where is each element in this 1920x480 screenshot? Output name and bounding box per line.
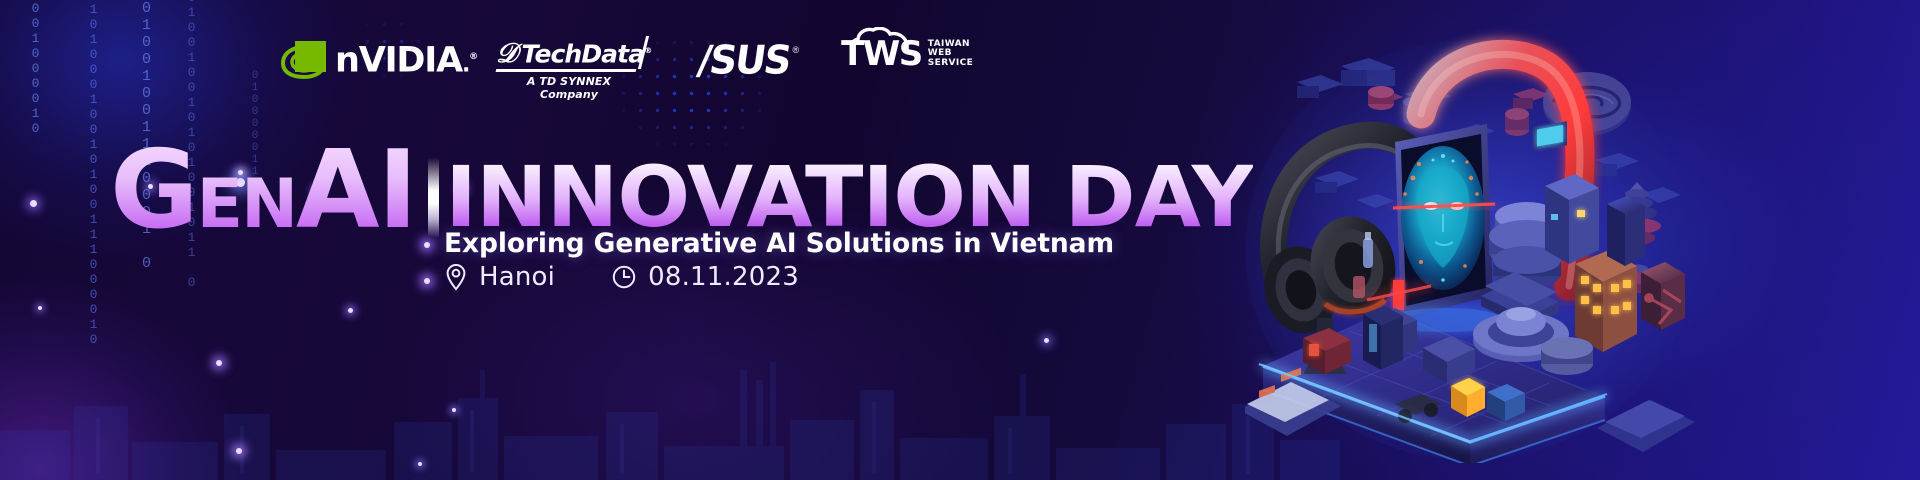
cloud-icon: [849, 27, 913, 53]
tws-tagline-line3: SERVICE: [928, 58, 973, 68]
glow-particle: [216, 360, 222, 366]
glow-particle: [348, 308, 353, 313]
nvidia-wordmark-text: nVIDIA: [335, 41, 462, 81]
clock-icon: [611, 264, 637, 290]
event-date: 08.11.2023: [611, 262, 799, 292]
binary-column: 0001000010: [28, 0, 42, 136]
techdata-wordmark: TechData®: [522, 38, 652, 67]
logo-asus[interactable]: /SUS ®: [698, 42, 799, 78]
brand-genai: GENAI: [110, 143, 416, 270]
glow-particle: [418, 462, 422, 466]
location-pin-icon: [444, 262, 468, 292]
city-skyline-silhouette: [0, 310, 1340, 480]
glow-particle: [30, 200, 37, 207]
event-meta-row: Hanoi 08.11.2023: [444, 262, 799, 292]
tws-tagline-line1: TAIWAN: [928, 39, 970, 49]
nvidia-registered-mark: ®: [469, 52, 477, 62]
glow-particle: [424, 278, 430, 284]
techdata-underline: [496, 69, 637, 72]
binary-column: 0110100010010100111000010: [86, 0, 100, 347]
brand-genai-en: EN: [197, 165, 296, 244]
logo-tech-data[interactable]: 𝒟 TechData® A TD SYNNEX Company: [496, 38, 642, 101]
techdata-monogram: 𝒟: [496, 40, 518, 66]
glow-particle: [1044, 338, 1049, 343]
asus-wordmark: /SUS: [695, 41, 792, 78]
asus-registered-mark: ®: [792, 45, 799, 55]
isometric-3d-ai-city-scene: [1245, 18, 1695, 463]
nvidia-wordmark: nVIDIA.®: [335, 40, 477, 83]
event-subtitle: Exploring Generative AI Solutions in Vie…: [444, 228, 1114, 259]
glow-particle: [38, 306, 42, 310]
partner-logo-bar: nVIDIA.® 𝒟 TechData® A TD SYNNEX Company…: [280, 30, 973, 92]
tws-tagline: TAIWAN WEB SERVICE: [928, 40, 973, 69]
event-date-label: 08.11.2023: [648, 262, 799, 292]
nvidia-eye-icon: [280, 41, 326, 81]
brand-genai-ai: AI: [296, 128, 416, 253]
techdata-wordmark-text: TechData: [522, 39, 645, 68]
logo-tws[interactable]: TWS TAIWAN WEB SERVICE: [841, 38, 973, 71]
event-banner: 0001000010 0110100010010100111000010 100…: [0, 0, 1920, 480]
glow-particle: [452, 408, 456, 412]
brand-genai-g: G: [110, 128, 197, 253]
title-divider-bar: [428, 157, 439, 237]
tws-tagline-line2: WEB: [928, 48, 952, 58]
event-location-label: Hanoi: [479, 262, 555, 292]
techdata-tagline: A TD SYNNEX Company: [496, 75, 642, 101]
logo-nvidia[interactable]: nVIDIA.®: [280, 40, 477, 83]
event-location: Hanoi: [444, 262, 555, 292]
glow-particle: [236, 448, 242, 454]
headline-innovation-day: INNOVATION DAY: [445, 155, 1253, 239]
